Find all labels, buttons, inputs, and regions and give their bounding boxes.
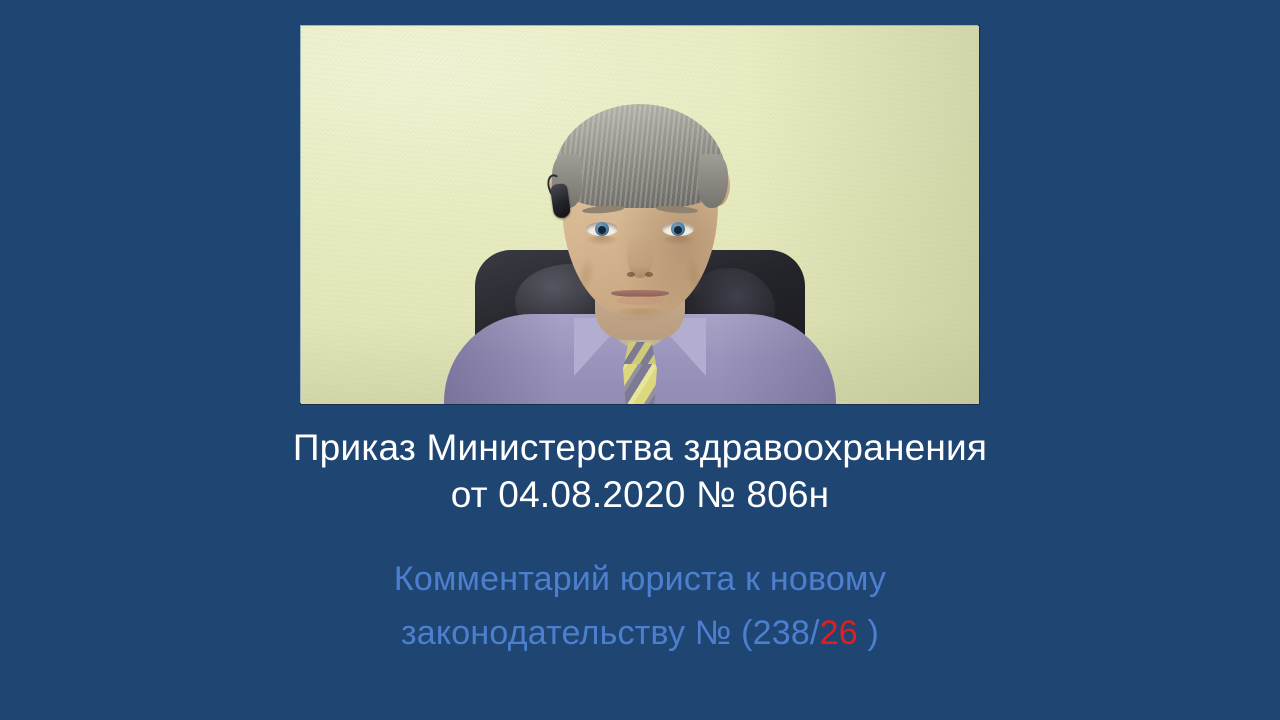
chin-shading xyxy=(610,308,670,322)
slide-title: Приказ Министерства здравоохранения от 0… xyxy=(0,424,1280,518)
pupil-right xyxy=(674,226,682,234)
speaker-video-frame[interactable] xyxy=(301,26,979,404)
iris-right xyxy=(671,222,685,236)
title-line-2: от 04.08.2020 № 806н xyxy=(0,471,1280,518)
slide-subtitle: Комментарий юриста к новому законодатель… xyxy=(0,552,1280,660)
undereye-left xyxy=(584,236,620,246)
subtitle-line-1: Комментарий юриста к новому xyxy=(0,552,1280,606)
title-line-1: Приказ Министерства здравоохранения xyxy=(0,424,1280,471)
undereye-right xyxy=(660,236,696,246)
pupil-left xyxy=(598,226,606,234)
iris-left xyxy=(595,222,609,236)
eye-left xyxy=(586,222,618,236)
presentation-slide: Приказ Министерства здравоохранения от 0… xyxy=(0,0,1280,720)
eye-right xyxy=(662,222,694,236)
subtitle-issue-number: 26 xyxy=(820,614,858,652)
nostril-left xyxy=(627,272,635,277)
subtitle-prefix: законодательству № (238/ xyxy=(401,614,820,652)
nostril-right xyxy=(645,272,653,277)
lower-lip xyxy=(616,296,664,305)
subtitle-suffix: ) xyxy=(858,614,879,652)
tie-knot xyxy=(624,342,656,364)
subtitle-line-2: законодательству № (238/26 ) xyxy=(0,606,1280,660)
hair-side-right xyxy=(698,154,728,208)
